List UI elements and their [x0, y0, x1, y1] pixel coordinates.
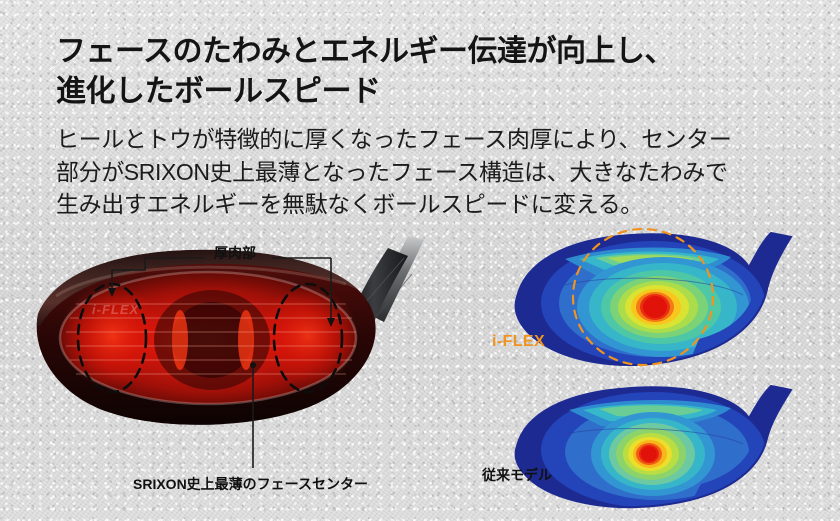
body-line-1: ヒールとトウが特徴的に厚くなったフェース肉厚により、センター — [56, 123, 776, 156]
heatmap-iflex-field — [503, 219, 823, 379]
promo-graphic-panel: フェースのたわみとエネルギー伝達が向上し、 進化したボールスピード ヒールとトウ… — [0, 0, 840, 521]
body-line-2: 部分がSRIXON史上最薄となったフェース構造は、大きなたわみで — [56, 156, 776, 189]
heatmap-iflex-label: i-FLEX — [492, 333, 545, 351]
heatmap-legacy-field — [503, 374, 823, 519]
callout-thick-section-label: 厚肉部 — [214, 243, 256, 263]
heatmap-legacy-label: 従来モデル — [482, 465, 552, 485]
heatmap-legacy-core — [641, 447, 657, 462]
heatmap-iflex-core — [643, 296, 667, 318]
heatmap-iflex — [503, 219, 823, 379]
callout-thin-center-label: SRIXON史上最薄のフェースセンター — [133, 474, 368, 494]
body-paragraph: ヒールとトウが特徴的に厚くなったフェース肉厚により、センター 部分がSRIXON… — [56, 123, 776, 221]
body-line-3: 生み出すエネルギーを無駄なくボールスピードに変える。 — [56, 188, 776, 221]
page-title: フェースのたわみとエネルギー伝達が向上し、 進化したボールスピード — [56, 32, 756, 112]
heading-line-2: 進化したボールスピード — [56, 72, 756, 112]
heatmap-legacy — [503, 374, 823, 519]
face-brand-text: i-FLEX — [92, 302, 139, 317]
heading-line-1: フェースのたわみとエネルギー伝達が向上し、 — [56, 32, 756, 72]
